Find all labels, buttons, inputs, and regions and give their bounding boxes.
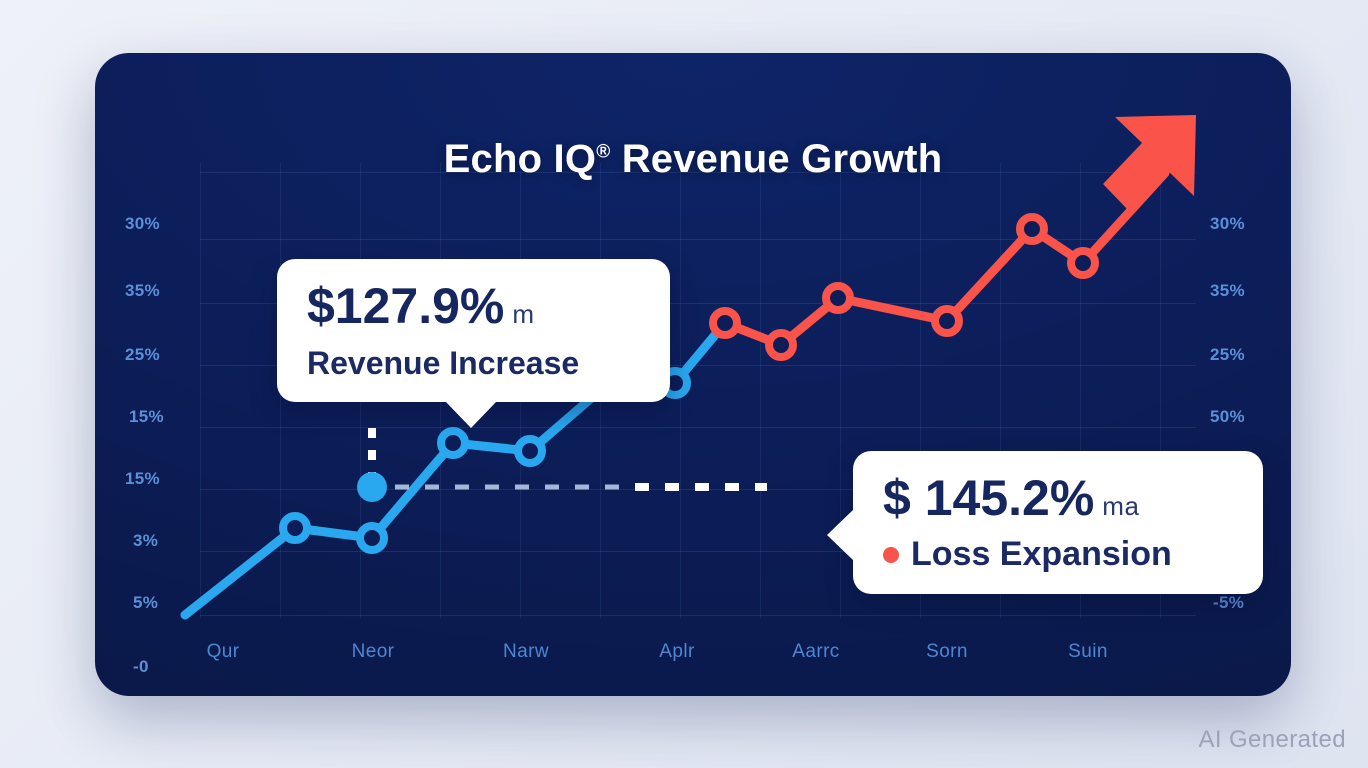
y-axis-left-tick: -0 bbox=[133, 657, 149, 677]
x-axis-tick: Aarrc bbox=[792, 641, 839, 663]
data-point-marker[interactable] bbox=[518, 439, 542, 463]
x-axis-tick: Aplr bbox=[659, 641, 694, 663]
callout-tail bbox=[827, 509, 854, 561]
y-axis-right-tick: 50% bbox=[1210, 407, 1245, 427]
data-point-marker[interactable] bbox=[1071, 251, 1095, 275]
x-axis-tick: Narw bbox=[503, 641, 549, 663]
chart-plot bbox=[95, 53, 1291, 696]
x-axis-tick: Neor bbox=[352, 641, 395, 663]
y-axis-right-tick: 35% bbox=[1210, 281, 1245, 301]
y-axis-left-tick: 3% bbox=[133, 531, 158, 551]
callout-value-suffix: m bbox=[512, 299, 534, 329]
data-point-marker[interactable] bbox=[713, 311, 737, 335]
data-point-marker[interactable] bbox=[360, 526, 384, 550]
y-axis-right-tick: 30% bbox=[1210, 214, 1245, 234]
y-axis-right-tick: -5% bbox=[1213, 593, 1244, 613]
highlight-point-marker[interactable] bbox=[357, 472, 387, 502]
data-point-marker[interactable] bbox=[441, 431, 465, 455]
callout-value-number: $ 145.2% bbox=[883, 470, 1094, 526]
chart-card: Echo IQ® Revenue Growth bbox=[95, 53, 1291, 696]
callout-revenue-increase[interactable]: $127.9%m Revenue Increase bbox=[277, 259, 670, 402]
y-axis-right-tick: 25% bbox=[1210, 345, 1245, 365]
callout-label-row: Loss Expansion bbox=[883, 535, 1233, 574]
data-point-marker[interactable] bbox=[769, 333, 793, 357]
y-axis-left-tick: 25% bbox=[125, 345, 160, 365]
callout-label: Revenue Increase bbox=[307, 345, 640, 382]
data-point-marker[interactable] bbox=[935, 309, 959, 333]
legend-dot-icon bbox=[883, 547, 899, 563]
y-axis-left-tick: 30% bbox=[125, 214, 160, 234]
x-axis-tick: Sorn bbox=[926, 641, 968, 663]
y-axis-left-tick: 15% bbox=[129, 407, 164, 427]
y-axis-left-tick: 5% bbox=[133, 593, 158, 613]
callout-value: $127.9%m bbox=[307, 281, 640, 331]
screenshot-root: Echo IQ® Revenue Growth bbox=[0, 0, 1368, 768]
data-point-marker[interactable] bbox=[283, 516, 307, 540]
callout-value-number: $127.9% bbox=[307, 278, 504, 334]
y-axis-left-tick: 35% bbox=[125, 281, 160, 301]
callout-label: Loss Expansion bbox=[911, 535, 1172, 573]
callout-tail bbox=[445, 401, 497, 428]
watermark-label: AI Generated bbox=[1198, 726, 1346, 754]
data-point-marker[interactable] bbox=[826, 286, 850, 310]
callout-value-suffix: ma bbox=[1102, 491, 1139, 521]
callout-loss-expansion[interactable]: $ 145.2%ma Loss Expansion bbox=[853, 451, 1263, 594]
x-axis-tick: Qur bbox=[207, 641, 240, 663]
data-point-marker[interactable] bbox=[1020, 217, 1044, 241]
callout-value: $ 145.2%ma bbox=[883, 473, 1233, 523]
x-axis-tick: Suin bbox=[1068, 641, 1108, 663]
y-axis-left-tick: 15% bbox=[125, 469, 160, 489]
